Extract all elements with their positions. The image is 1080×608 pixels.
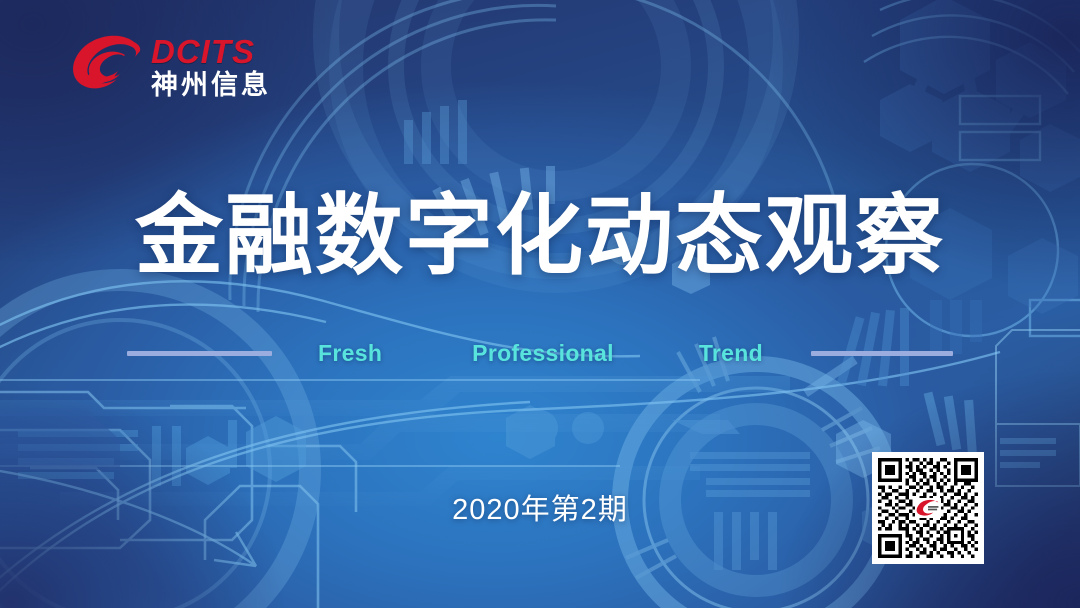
- dcits-swirl-icon: [70, 33, 142, 99]
- logo-name-cn: 神州信息: [151, 70, 271, 100]
- qr-code[interactable]: [872, 452, 984, 564]
- logo-wordmark: DCITS 神州信息: [151, 33, 271, 100]
- dcits-logo: DCITS 神州信息: [70, 33, 271, 100]
- tagline-rule-right: [811, 351, 953, 356]
- presentation-slide: DCITS 神州信息 金融数字化动态观察 Fresh Professional …: [0, 0, 1080, 608]
- logo-name-en: DCITS: [151, 35, 271, 69]
- page-title: 金融数字化动态观察: [0, 188, 1080, 283]
- tagline-word-professional: Professional: [472, 340, 614, 367]
- tagline-word-fresh: Fresh: [318, 340, 382, 367]
- tagline-word-trend: Trend: [699, 340, 763, 367]
- tagline-row: Fresh Professional Trend: [0, 340, 1080, 367]
- qr-center-logo: [915, 498, 941, 518]
- tagline-rule-left: [127, 351, 272, 356]
